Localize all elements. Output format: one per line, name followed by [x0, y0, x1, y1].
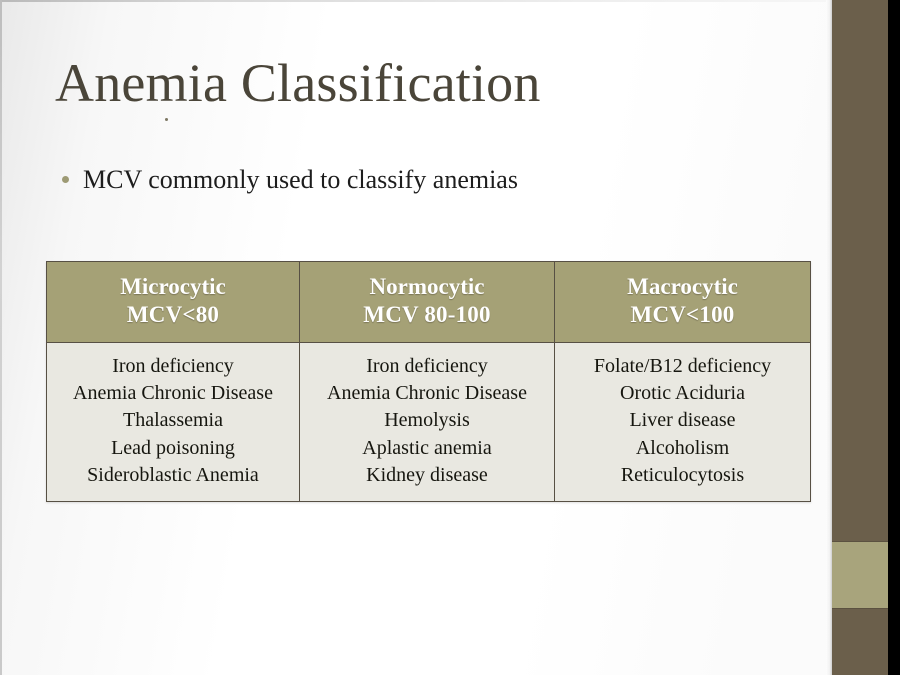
- cause-list: Iron deficiency Anemia Chronic Disease T…: [55, 353, 291, 490]
- column-header-title: Microcytic: [120, 274, 226, 299]
- column-header-microcytic: Microcytic MCV<80: [47, 262, 300, 343]
- cell-microcytic-causes: Iron deficiency Anemia Chronic Disease T…: [47, 342, 300, 501]
- table-row: Iron deficiency Anemia Chronic Disease T…: [47, 342, 811, 501]
- list-item: Anemia Chronic Disease: [308, 380, 546, 407]
- column-header-title: Normocytic: [370, 274, 485, 299]
- cause-list: Iron deficiency Anemia Chronic Disease H…: [308, 353, 546, 490]
- bullet-item-label: MCV commonly used to classify anemias: [83, 164, 518, 195]
- column-header-subtitle: MCV<100: [561, 301, 804, 329]
- list-item: Lead poisoning: [55, 435, 291, 462]
- list-item: Aplastic anemia: [308, 435, 546, 462]
- bullet-item: MCV commonly used to classify anemias: [62, 164, 518, 195]
- list-item: Alcoholism: [563, 435, 802, 462]
- list-item: Iron deficiency: [308, 353, 546, 380]
- list-item: Anemia Chronic Disease: [55, 380, 291, 407]
- list-item: Iron deficiency: [55, 353, 291, 380]
- cell-normocytic-causes: Iron deficiency Anemia Chronic Disease H…: [300, 342, 555, 501]
- column-header-normocytic: Normocytic MCV 80-100: [300, 262, 555, 343]
- column-header-title: Macrocytic: [627, 274, 738, 299]
- slide-right-letterbox: [888, 0, 900, 675]
- list-item: Thalassemia: [55, 407, 291, 434]
- cell-macrocytic-causes: Folate/B12 deficiency Orotic Aciduria Li…: [555, 342, 811, 501]
- list-item: Hemolysis: [308, 407, 546, 434]
- list-item: Kidney disease: [308, 462, 546, 489]
- bullet-dot-icon: [62, 176, 69, 183]
- canvas-top-edge: [0, 0, 832, 2]
- page-title: Anemia Classification: [55, 54, 541, 112]
- list-item: Sideroblastic Anemia: [55, 462, 291, 489]
- slide-root: Anemia Classification MCV commonly used …: [0, 0, 900, 675]
- list-item: Folate/B12 deficiency: [563, 353, 802, 380]
- table-header-row: Microcytic MCV<80 Normocytic MCV 80-100 …: [47, 262, 811, 343]
- anemia-classification-table: Microcytic MCV<80 Normocytic MCV 80-100 …: [46, 261, 811, 502]
- decorative-accent-block: [832, 541, 888, 609]
- title-speck-artifact: [165, 118, 168, 121]
- cause-list: Folate/B12 deficiency Orotic Aciduria Li…: [563, 353, 802, 490]
- list-item: Reticulocytosis: [563, 462, 802, 489]
- column-header-subtitle: MCV 80-100: [306, 301, 548, 329]
- list-item: Orotic Aciduria: [563, 380, 802, 407]
- list-item: Liver disease: [563, 407, 802, 434]
- column-header-subtitle: MCV<80: [53, 301, 293, 329]
- canvas-left-edge: [0, 0, 2, 675]
- column-header-macrocytic: Macrocytic MCV<100: [555, 262, 811, 343]
